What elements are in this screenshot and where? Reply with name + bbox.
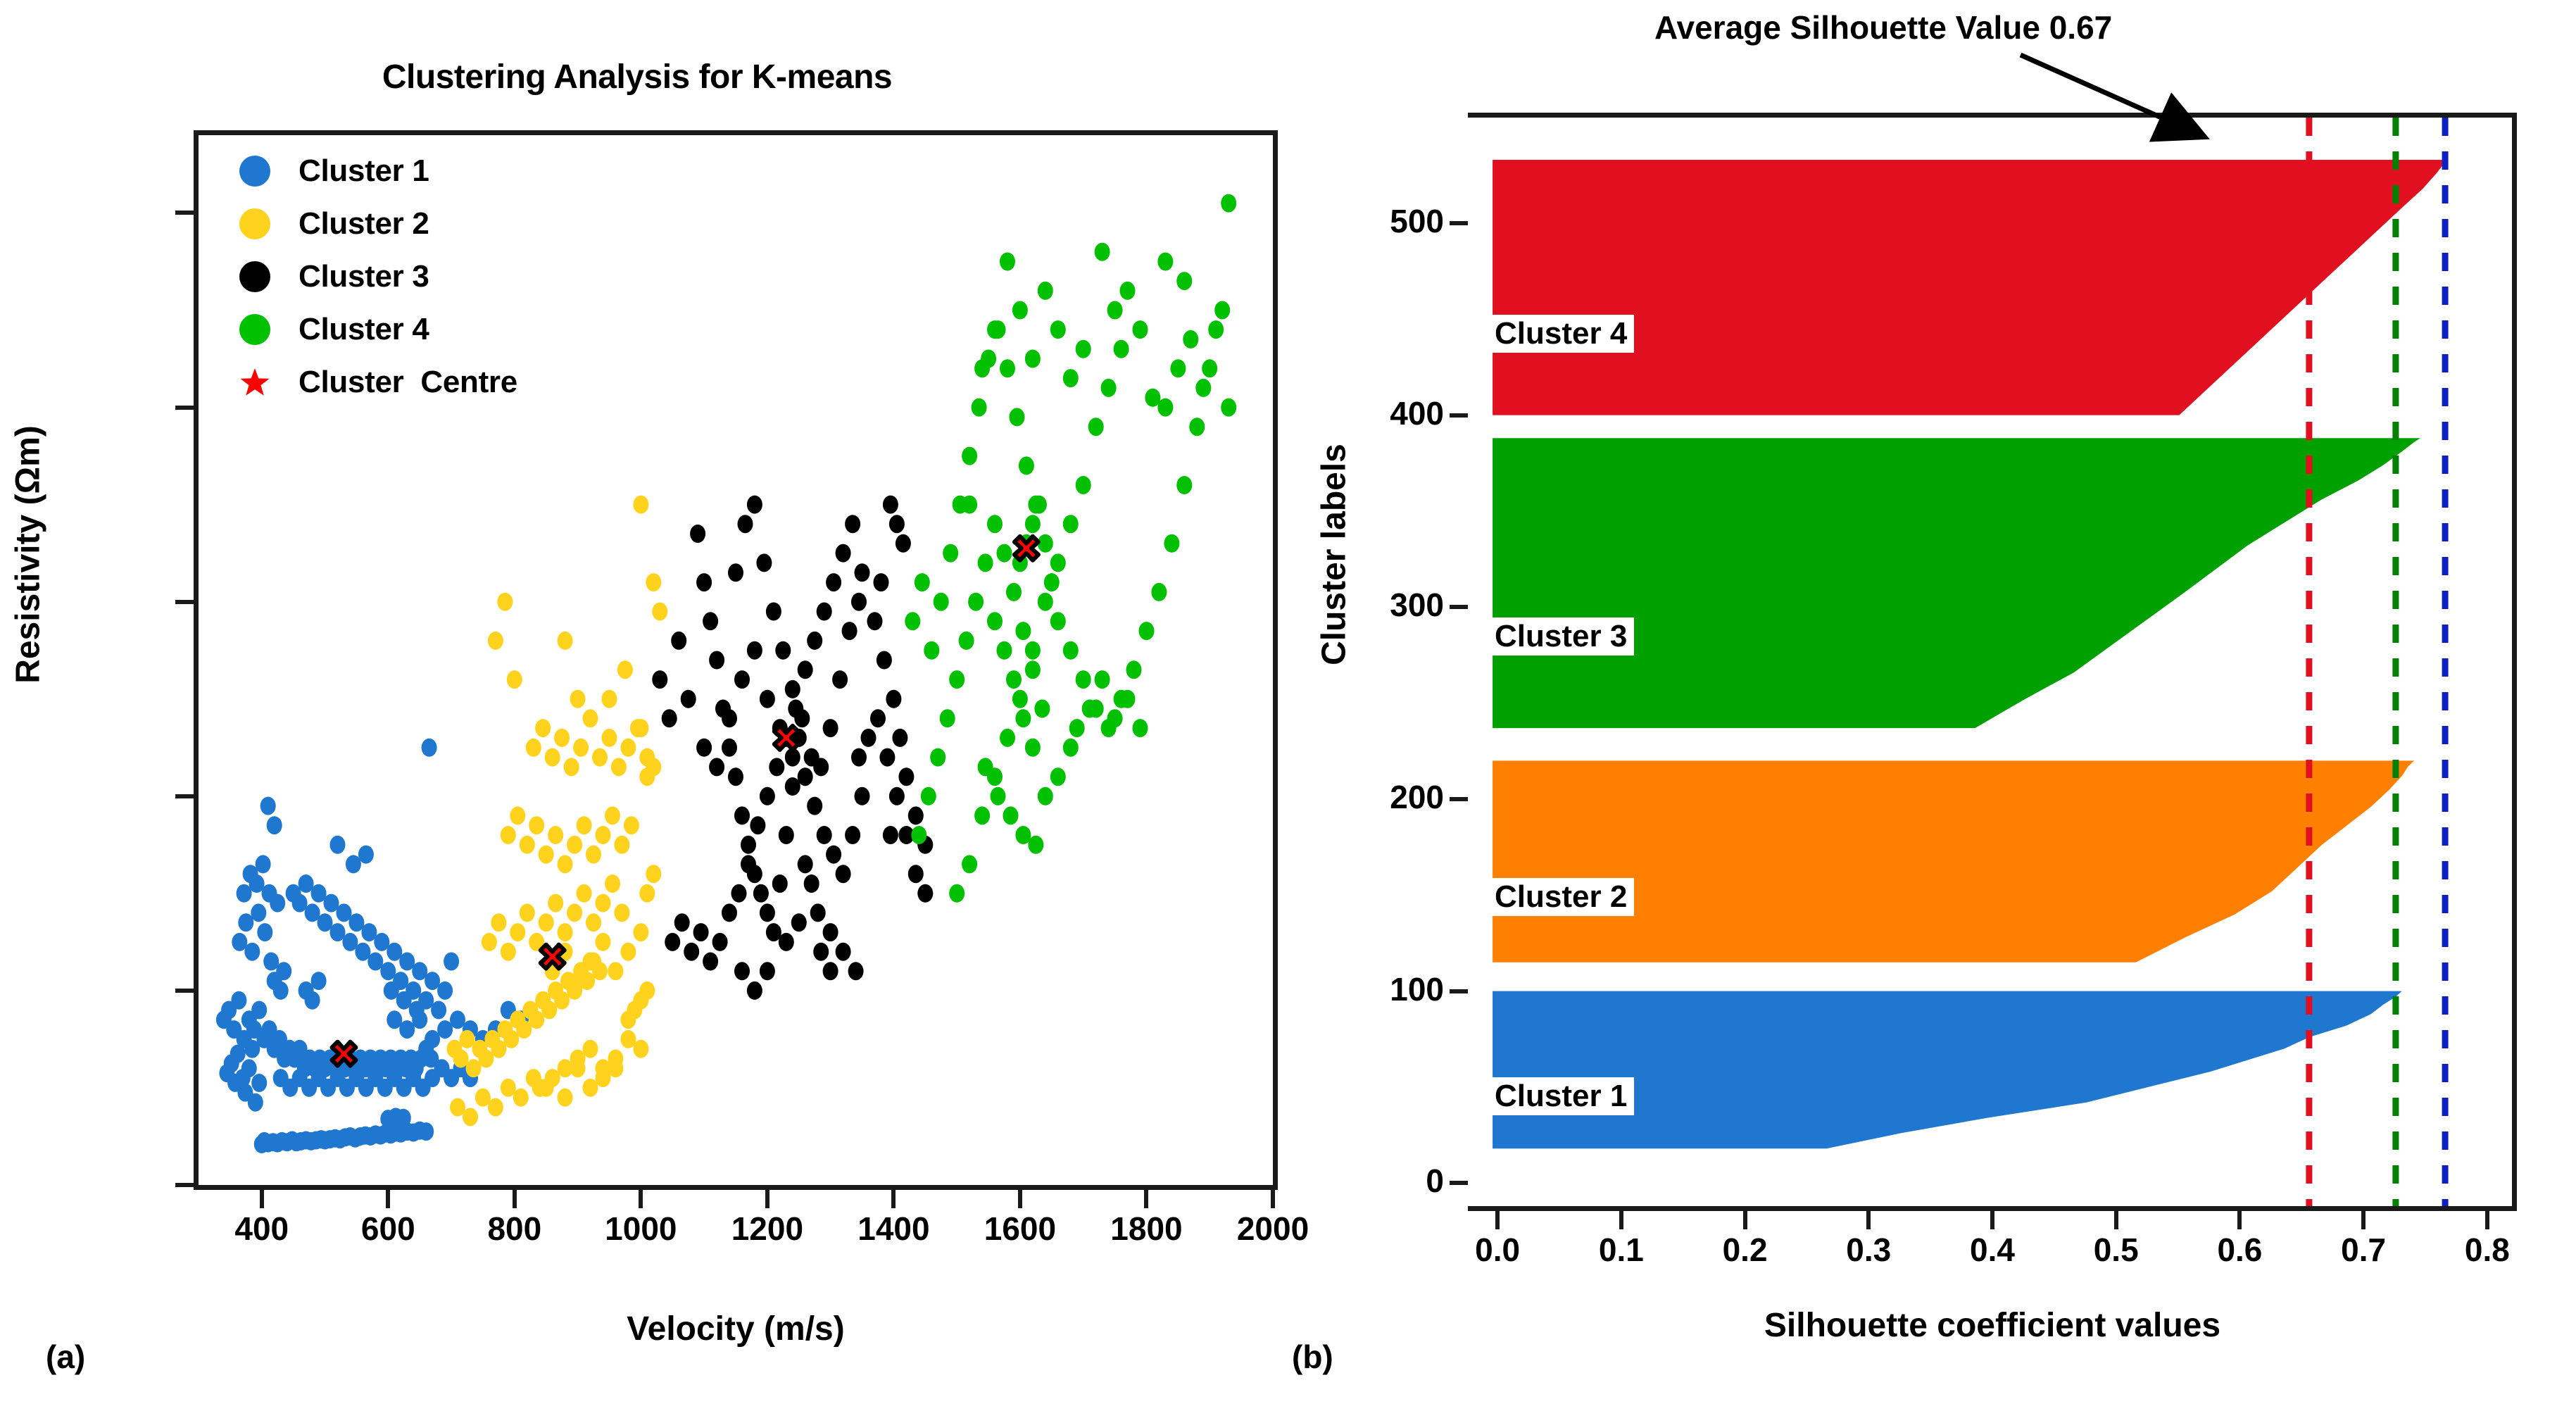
silhouette-y-tickmark — [1450, 797, 1468, 801]
star-icon — [239, 367, 270, 398]
scatter-x-axis-label: Velocity (m/s) — [194, 1310, 1278, 1348]
silhouette-x-tickmark — [1743, 1211, 1747, 1229]
scatter-x-tickmark — [1271, 1190, 1275, 1208]
panel-b-label: (b) — [1292, 1338, 1333, 1376]
cluster-1-dot-icon — [239, 156, 270, 187]
scatter-y-axis-label: Resistivity (Ωm) — [9, 358, 48, 752]
panel-a-scatter: Clustering Analysis for K-means Cluster … — [0, 0, 1288, 1411]
legend-item-cluster-2: Cluster 2 — [239, 197, 517, 250]
silhouette-x-tick: 0.8 — [2417, 1231, 2558, 1269]
silhouette-y-tick: 300 — [1289, 586, 1444, 624]
scatter-x-tickmark — [260, 1190, 264, 1208]
silhouette-x-tickmark — [2237, 1211, 2242, 1229]
scatter-x-tickmark — [765, 1190, 769, 1208]
silhouette-x-tick: 0.4 — [1922, 1231, 2063, 1269]
legend-item-cluster-1: Cluster 1 — [239, 144, 517, 197]
legend-item-cluster-centre: Cluster Centre — [239, 356, 517, 408]
silhouette-y-tickmark — [1450, 221, 1468, 225]
silhouette-y-tick: 500 — [1289, 202, 1444, 240]
silhouette-area-cluster-3 — [1493, 438, 2420, 728]
cluster-3-dot-icon — [239, 261, 270, 292]
legend-label-cluster-1: Cluster 1 — [299, 153, 429, 189]
scatter-x-tickmark — [891, 1190, 896, 1208]
panel-a-label: (a) — [46, 1338, 85, 1376]
silhouette-x-axis-label: Silhouette coefficient values — [1468, 1306, 2517, 1345]
legend-item-cluster-3: Cluster 3 — [239, 250, 517, 303]
silhouette-y-tickmark — [1450, 1181, 1468, 1185]
legend-label-cluster-3: Cluster 3 — [299, 259, 429, 294]
silhouette-x-tickmark — [1495, 1211, 1500, 1229]
scatter-y-tickmark — [175, 406, 194, 410]
scatter-y-tickmark — [175, 794, 194, 798]
scatter-series-cluster-4 — [905, 194, 1236, 903]
scatter-y-tickmark — [175, 989, 194, 993]
silhouette-y-tick: 400 — [1289, 394, 1444, 432]
scatter-title: Clustering Analysis for K-means — [194, 58, 1081, 96]
silhouette-x-tickmark — [2114, 1211, 2118, 1229]
scatter-legend: Cluster 1 Cluster 2 Cluster 3 Cluster 4 — [239, 144, 517, 408]
cluster-tag-cluster-4: Cluster 4 — [1488, 315, 1634, 353]
scatter-y-tickmark — [175, 600, 194, 604]
silhouette-x-tick: 0.6 — [2169, 1231, 2310, 1269]
scatter-x-tick: 400 — [191, 1210, 332, 1248]
scatter-x-tickmark — [1018, 1190, 1022, 1208]
figure-root: Clustering Analysis for K-means Cluster … — [0, 0, 2576, 1411]
silhouette-x-tick: 0.7 — [2293, 1231, 2434, 1269]
silhouette-x-tickmark — [1990, 1211, 1994, 1229]
silhouette-y-tick: 200 — [1289, 778, 1444, 816]
silhouette-y-tickmark — [1450, 413, 1468, 418]
scatter-x-tickmark — [1144, 1190, 1148, 1208]
cluster-tag-cluster-3: Cluster 3 — [1488, 617, 1634, 656]
scatter-x-tick: 1000 — [570, 1210, 711, 1248]
silhouette-x-tickmark — [2361, 1211, 2365, 1229]
silhouette-y-tickmark — [1450, 605, 1468, 609]
silhouette-x-tick: 0.2 — [1675, 1231, 1816, 1269]
legend-label-cluster-centre: Cluster Centre — [299, 365, 517, 400]
silhouette-x-tickmark — [1866, 1211, 1871, 1229]
silhouette-y-axis-label: Cluster labels — [1315, 337, 1354, 773]
silhouette-canvas — [1468, 118, 2507, 1206]
scatter-x-tick: 1800 — [1076, 1210, 1217, 1248]
average-silhouette-annotation: Average Silhouette Value 0.67 — [1654, 8, 2112, 46]
silhouette-x-tickmark — [2485, 1211, 2489, 1229]
cluster-tag-cluster-2: Cluster 2 — [1488, 878, 1634, 916]
silhouette-area-cluster-4 — [1493, 160, 2448, 415]
scatter-x-tick: 800 — [444, 1210, 585, 1248]
legend-label-cluster-2: Cluster 2 — [299, 206, 429, 242]
scatter-y-tickmark — [175, 1183, 194, 1187]
scatter-x-tickmark — [513, 1190, 517, 1208]
legend-item-cluster-4: Cluster 4 — [239, 303, 517, 356]
silhouette-x-tick: 0.3 — [1798, 1231, 1939, 1269]
scatter-x-tick: 1200 — [697, 1210, 838, 1248]
cluster-tag-cluster-1: Cluster 1 — [1488, 1077, 1634, 1115]
scatter-x-tickmark — [639, 1190, 643, 1208]
silhouette-y-tick: 0 — [1289, 1162, 1444, 1200]
cluster-2-dot-icon — [239, 208, 270, 239]
scatter-x-tick: 1600 — [950, 1210, 1091, 1248]
silhouette-area-cluster-1 — [1493, 991, 2402, 1149]
scatter-y-tickmark — [175, 211, 194, 215]
scatter-x-tick: 600 — [318, 1210, 458, 1248]
panel-b-silhouette: Average Silhouette Value 0.67 0100200300… — [1288, 0, 2576, 1411]
silhouette-plot-area — [1468, 113, 2517, 1211]
legend-label-cluster-4: Cluster 4 — [299, 312, 429, 347]
silhouette-x-tick: 0.5 — [2046, 1231, 2187, 1269]
silhouette-area-cluster-2 — [1493, 760, 2414, 962]
silhouette-y-tickmark — [1450, 989, 1468, 993]
silhouette-x-tick: 0.1 — [1551, 1231, 1692, 1269]
silhouette-x-tickmark — [1619, 1211, 1623, 1229]
cluster-4-dot-icon — [239, 314, 270, 345]
silhouette-x-tick: 0.0 — [1427, 1231, 1568, 1269]
scatter-x-tickmark — [386, 1190, 390, 1208]
silhouette-y-tick: 100 — [1289, 970, 1444, 1008]
scatter-x-tick: 1400 — [823, 1210, 964, 1248]
